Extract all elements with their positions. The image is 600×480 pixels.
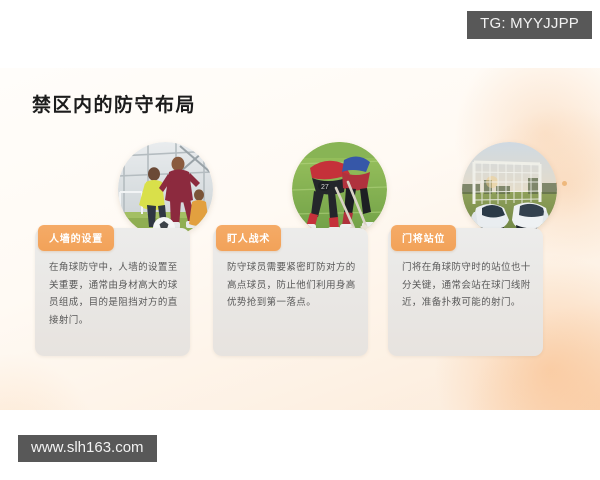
telegram-handle-badge: TG: MYYJJPP xyxy=(467,11,592,39)
card-photo-1 xyxy=(118,142,213,237)
card-badge: 门将站位 xyxy=(391,225,456,251)
card-body-text: 防守球员需要紧密盯防对方的高点球员，防止他们利用身高优势抢到第一落点。 xyxy=(227,259,356,312)
card-photo-2: 27 xyxy=(292,142,387,237)
card-body-text: 在角球防守中，人墙的设置至关重要，通常由身材高大的球员组成，目的是阻挡对方的直接… xyxy=(49,259,178,329)
site-watermark: www.slh163.com xyxy=(18,435,157,463)
card-body-text: 门将在角球防守时的站位也十分关键，通常会站在球门线附近，准备扑救可能的射门。 xyxy=(402,259,531,312)
cards-row: 27 xyxy=(0,68,600,410)
content-panel: 禁区内的防守布局 xyxy=(0,68,600,410)
card-photo-3 xyxy=(462,142,557,237)
card-badge: 盯人战术 xyxy=(216,225,281,251)
card-badge: 人墙的设置 xyxy=(38,225,114,251)
svg-text:27: 27 xyxy=(321,184,329,191)
